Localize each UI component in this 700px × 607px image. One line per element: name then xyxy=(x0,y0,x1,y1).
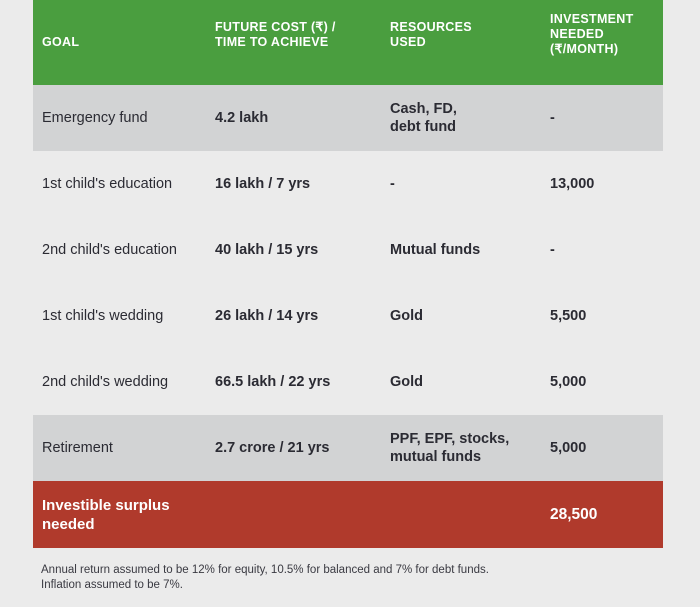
column-header-investment-needed-line3: (₹/MONTH) xyxy=(550,42,618,56)
cell-goal: 2nd child's education xyxy=(42,241,217,259)
column-header-future-cost: FUTURE COST (₹) / TIME TO ACHIEVE xyxy=(215,20,380,50)
cell-investment-needed: 5,500 xyxy=(550,307,660,325)
cell-goal: Retirement xyxy=(42,439,217,457)
table-row: 1st child's education16 lakh / 7 yrs-13,… xyxy=(33,151,663,217)
column-header-resources-used-line2: USED xyxy=(390,35,426,49)
table-body: Emergency fund4.2 lakhCash, FD,debt fund… xyxy=(33,85,663,481)
table-row: 1st child's wedding26 lakh / 14 yrsGold5… xyxy=(33,283,663,349)
cell-resources-used-line2: debt fund xyxy=(390,119,456,135)
total-row: Investible surplus needed 28,500 xyxy=(33,481,663,548)
total-row-label: Investible surplus needed xyxy=(42,496,232,534)
column-header-goal: GOAL xyxy=(42,35,202,50)
cell-resources-used-line2: mutual funds xyxy=(390,449,481,465)
cell-investment-needed: 5,000 xyxy=(550,439,660,457)
cell-resources-used-line1: Gold xyxy=(390,308,423,324)
cell-future-cost: 66.5 lakh / 22 yrs xyxy=(215,373,385,391)
cell-resources-used-line1: Cash, FD, xyxy=(390,101,457,117)
footnote-line-2: Inflation assumed to be 7%. xyxy=(41,578,601,593)
cell-resources-used: Cash, FD,debt fund xyxy=(390,100,545,136)
column-header-goal-label: GOAL xyxy=(42,35,79,49)
total-row-value: 28,500 xyxy=(550,506,660,524)
cell-resources-used-line1: Gold xyxy=(390,374,423,390)
cell-goal: Emergency fund xyxy=(42,109,217,127)
cell-resources-used-line1: PPF, EPF, stocks, xyxy=(390,431,509,447)
column-header-investment-needed-line1: INVESTMENT xyxy=(550,12,634,26)
cell-future-cost: 16 lakh / 7 yrs xyxy=(215,175,385,193)
cell-investment-needed: 5,000 xyxy=(550,373,660,391)
cell-resources-used: PPF, EPF, stocks,mutual funds xyxy=(390,430,545,466)
total-row-label-line2: needed xyxy=(42,516,95,533)
cell-future-cost: 40 lakh / 15 yrs xyxy=(215,241,385,259)
table-header-row: GOAL FUTURE COST (₹) / TIME TO ACHIEVE R… xyxy=(33,0,663,85)
cell-investment-needed: - xyxy=(550,241,660,259)
footnote-line-1: Annual return assumed to be 12% for equi… xyxy=(41,563,601,578)
cell-resources-used-line1: - xyxy=(390,176,395,192)
table-row: Emergency fund4.2 lakhCash, FD,debt fund… xyxy=(33,85,663,151)
cell-investment-needed: - xyxy=(550,109,660,127)
cell-future-cost: 26 lakh / 14 yrs xyxy=(215,307,385,325)
table-row: 2nd child's wedding66.5 lakh / 22 yrsGol… xyxy=(33,349,663,415)
cell-resources-used: Gold xyxy=(390,307,545,325)
footnote: Annual return assumed to be 12% for equi… xyxy=(41,563,601,592)
table-row: 2nd child's education40 lakh / 15 yrsMut… xyxy=(33,217,663,283)
total-row-label-line1: Investible surplus xyxy=(42,497,170,514)
cell-resources-used: - xyxy=(390,175,545,193)
cell-resources-used-line1: Mutual funds xyxy=(390,242,480,258)
cell-resources-used: Gold xyxy=(390,373,545,391)
cell-investment-needed: 13,000 xyxy=(550,175,660,193)
cell-resources-used: Mutual funds xyxy=(390,241,545,259)
table-row: Retirement2.7 crore / 21 yrsPPF, EPF, st… xyxy=(33,415,663,481)
column-header-investment-needed: INVESTMENT NEEDED (₹/MONTH) xyxy=(550,12,670,57)
page-root: GOAL FUTURE COST (₹) / TIME TO ACHIEVE R… xyxy=(0,0,700,607)
cell-future-cost: 4.2 lakh xyxy=(215,109,385,127)
column-header-investment-needed-line2: NEEDED xyxy=(550,27,604,41)
column-header-future-cost-line2: TIME TO ACHIEVE xyxy=(215,35,329,49)
column-header-resources-used: RESOURCES USED xyxy=(390,20,530,50)
goals-table: GOAL FUTURE COST (₹) / TIME TO ACHIEVE R… xyxy=(33,0,663,548)
cell-goal: 1st child's wedding xyxy=(42,307,217,325)
column-header-future-cost-line1: FUTURE COST (₹) / xyxy=(215,20,336,34)
cell-goal: 1st child's education xyxy=(42,175,217,193)
cell-future-cost: 2.7 crore / 21 yrs xyxy=(215,439,385,457)
cell-goal: 2nd child's wedding xyxy=(42,373,217,391)
column-header-resources-used-line1: RESOURCES xyxy=(390,20,472,34)
